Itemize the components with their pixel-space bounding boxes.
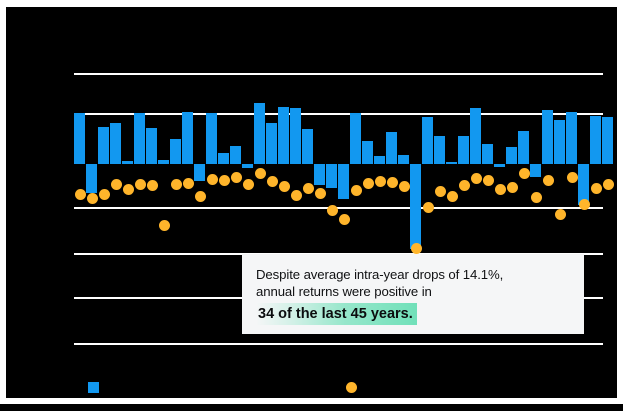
dot xyxy=(387,177,398,188)
bar xyxy=(446,162,457,164)
dot xyxy=(495,184,506,195)
dot xyxy=(555,209,566,220)
dot xyxy=(327,205,338,216)
dot xyxy=(195,191,206,202)
bar xyxy=(494,164,505,167)
bar xyxy=(134,113,145,164)
bar xyxy=(362,141,373,164)
bar xyxy=(314,164,325,185)
dot xyxy=(315,188,326,199)
bar xyxy=(122,161,133,164)
callout-line-2: annual returns were positive in xyxy=(256,283,570,300)
dot xyxy=(459,180,470,191)
gridline xyxy=(74,343,603,345)
dot xyxy=(207,174,218,185)
bar xyxy=(590,116,601,164)
dot xyxy=(87,193,98,204)
dot xyxy=(435,186,446,197)
bar xyxy=(194,164,205,181)
bar xyxy=(110,123,121,164)
dot xyxy=(279,181,290,192)
bar xyxy=(290,108,301,164)
dot xyxy=(183,178,194,189)
dot xyxy=(375,176,386,187)
bar xyxy=(206,113,217,164)
dot xyxy=(447,191,458,202)
bar xyxy=(302,129,313,164)
bar xyxy=(242,164,253,168)
dot xyxy=(123,184,134,195)
bar xyxy=(506,147,517,164)
gridline xyxy=(74,113,603,115)
bar xyxy=(218,153,229,164)
bar xyxy=(374,156,385,164)
bar xyxy=(434,136,445,164)
bar xyxy=(146,128,157,164)
bar xyxy=(470,108,481,164)
dot xyxy=(159,220,170,231)
legend-bar-swatch xyxy=(88,382,99,393)
callout-box: Despite average intra-year drops of 14.1… xyxy=(242,254,584,334)
bar xyxy=(602,117,613,164)
dot xyxy=(363,178,374,189)
bar xyxy=(350,113,361,164)
bar xyxy=(254,103,265,164)
gridline xyxy=(74,207,603,209)
bar xyxy=(86,164,97,193)
dot xyxy=(399,181,410,192)
bar xyxy=(398,155,409,164)
dot xyxy=(111,179,122,190)
bar xyxy=(566,112,577,164)
bar xyxy=(170,139,181,164)
callout-line-1: Despite average intra-year drops of 14.1… xyxy=(256,266,570,283)
legend-item-intra-year-decline xyxy=(346,382,363,393)
bar xyxy=(158,160,169,164)
chart-legend xyxy=(74,382,603,402)
dot xyxy=(519,168,530,179)
legend-dot-swatch xyxy=(346,382,357,393)
bar xyxy=(74,113,85,164)
bar xyxy=(482,144,493,164)
bar xyxy=(386,132,397,164)
bar xyxy=(182,112,193,164)
dot xyxy=(591,183,602,194)
dot xyxy=(171,179,182,190)
bar xyxy=(530,164,541,177)
bar xyxy=(98,127,109,164)
dot xyxy=(99,189,110,200)
bar xyxy=(338,164,349,199)
dot xyxy=(483,175,494,186)
dot xyxy=(351,185,362,196)
dot xyxy=(231,172,242,183)
dot xyxy=(339,214,350,225)
dot xyxy=(507,182,518,193)
bar xyxy=(230,146,241,164)
dot xyxy=(543,175,554,186)
dot xyxy=(75,189,86,200)
chart-frame: Despite average intra-year drops of 14.1… xyxy=(0,0,623,404)
dot xyxy=(303,183,314,194)
dot xyxy=(219,175,230,186)
bar xyxy=(278,107,289,164)
dot xyxy=(567,172,578,183)
bar xyxy=(554,120,565,164)
bar xyxy=(458,136,469,164)
bar xyxy=(422,117,433,164)
dot xyxy=(291,190,302,201)
bar xyxy=(518,131,529,164)
bar xyxy=(266,123,277,164)
bar xyxy=(410,164,421,249)
dot xyxy=(267,176,278,187)
dot xyxy=(603,179,614,190)
dot xyxy=(531,192,542,203)
callout-emphasis: 34 of the last 45 years. xyxy=(256,303,417,325)
legend-item-annual-return xyxy=(88,382,105,393)
chart-canvas: Despite average intra-year drops of 14.1… xyxy=(6,7,623,411)
dot xyxy=(147,180,158,191)
dot xyxy=(255,168,266,179)
dot xyxy=(243,179,254,190)
dot xyxy=(135,179,146,190)
dot xyxy=(471,173,482,184)
gridline xyxy=(74,73,603,75)
dot xyxy=(579,199,590,210)
dot xyxy=(411,243,422,254)
bar xyxy=(542,110,553,164)
dot xyxy=(423,202,434,213)
bar xyxy=(326,164,337,188)
